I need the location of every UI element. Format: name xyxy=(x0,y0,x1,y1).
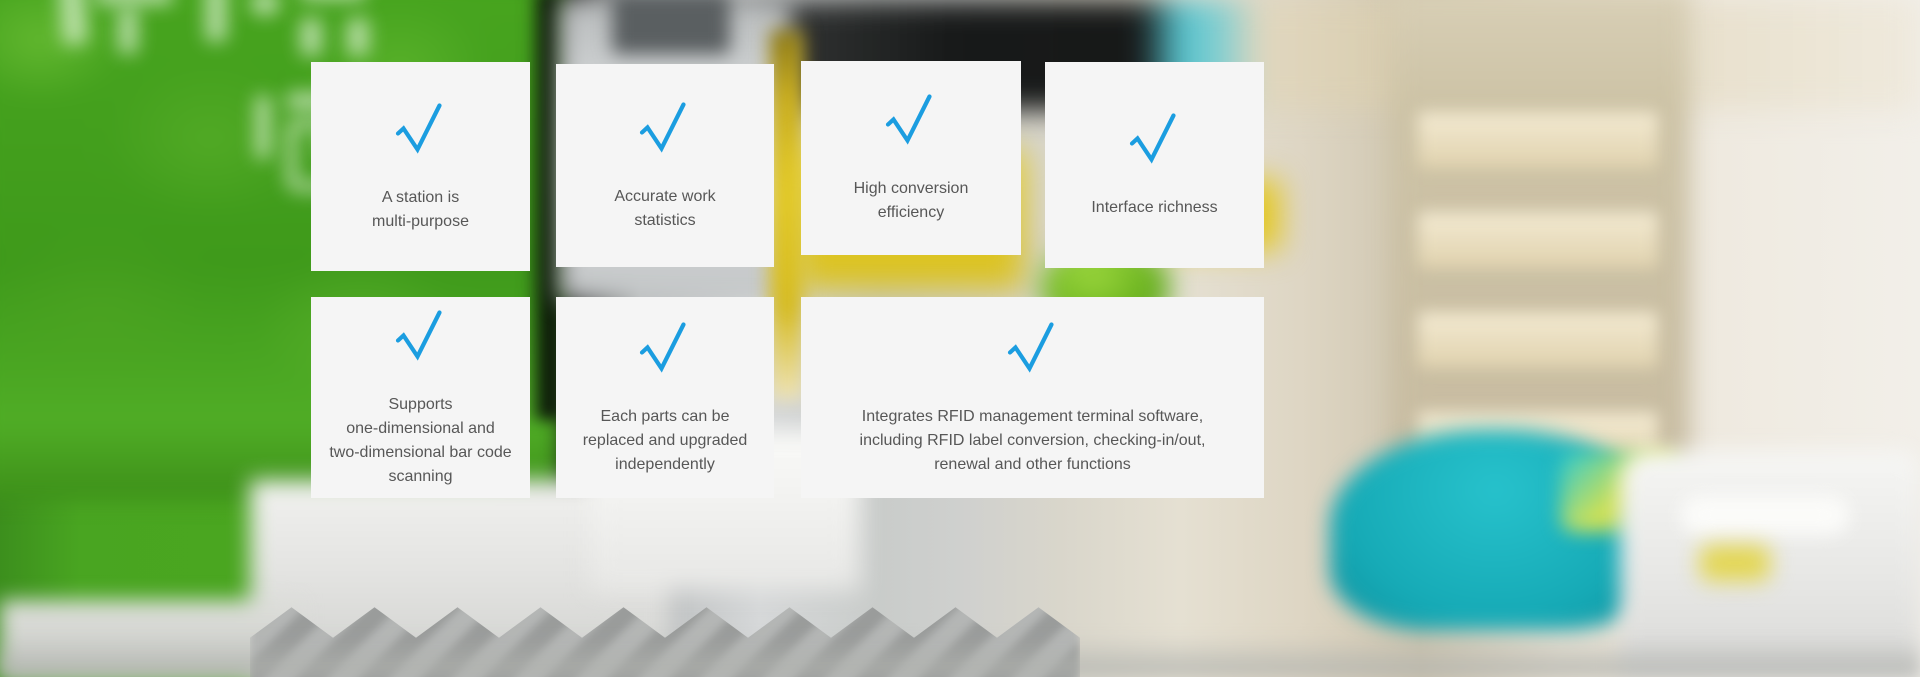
feature-card-grid: A station is multi-purposeAccurate work … xyxy=(0,0,1920,677)
check-mark-icon xyxy=(1006,319,1060,381)
feature-card-label: Supports one-dimensional and two-dimensi… xyxy=(329,393,511,489)
feature-card-integrates-rfid-management-terminal-software[interactable]: Integrates RFID management terminal soft… xyxy=(801,297,1264,498)
feature-card-parts-replaced-upgraded-independently[interactable]: Each parts can be replaced and upgraded … xyxy=(556,297,774,498)
check-mark-icon xyxy=(638,99,692,161)
check-mark-icon xyxy=(394,100,448,162)
check-mark-icon xyxy=(394,307,448,369)
check-mark-icon xyxy=(1128,110,1182,172)
feature-card-interface-richness[interactable]: Interface richness xyxy=(1045,62,1264,268)
feature-highlights-page: A station is multi-purposeAccurate work … xyxy=(0,0,1920,677)
feature-card-a-station-is-multi-purpose[interactable]: A station is multi-purpose xyxy=(311,62,530,271)
feature-card-label: A station is multi-purpose xyxy=(372,186,469,234)
check-mark-icon xyxy=(884,91,938,153)
feature-card-label: Accurate work statistics xyxy=(614,185,715,233)
feature-card-label: Integrates RFID management terminal soft… xyxy=(860,405,1206,477)
feature-card-label: High conversion efficiency xyxy=(854,177,969,225)
feature-card-supports-bar-code-scanning[interactable]: Supports one-dimensional and two-dimensi… xyxy=(311,297,530,498)
feature-card-high-conversion-efficiency[interactable]: High conversion efficiency xyxy=(801,61,1021,255)
check-mark-icon xyxy=(638,319,692,381)
feature-card-label: Each parts can be replaced and upgraded … xyxy=(583,405,748,477)
feature-card-label: Interface richness xyxy=(1091,196,1217,220)
feature-card-accurate-work-statistics[interactable]: Accurate work statistics xyxy=(556,64,774,267)
